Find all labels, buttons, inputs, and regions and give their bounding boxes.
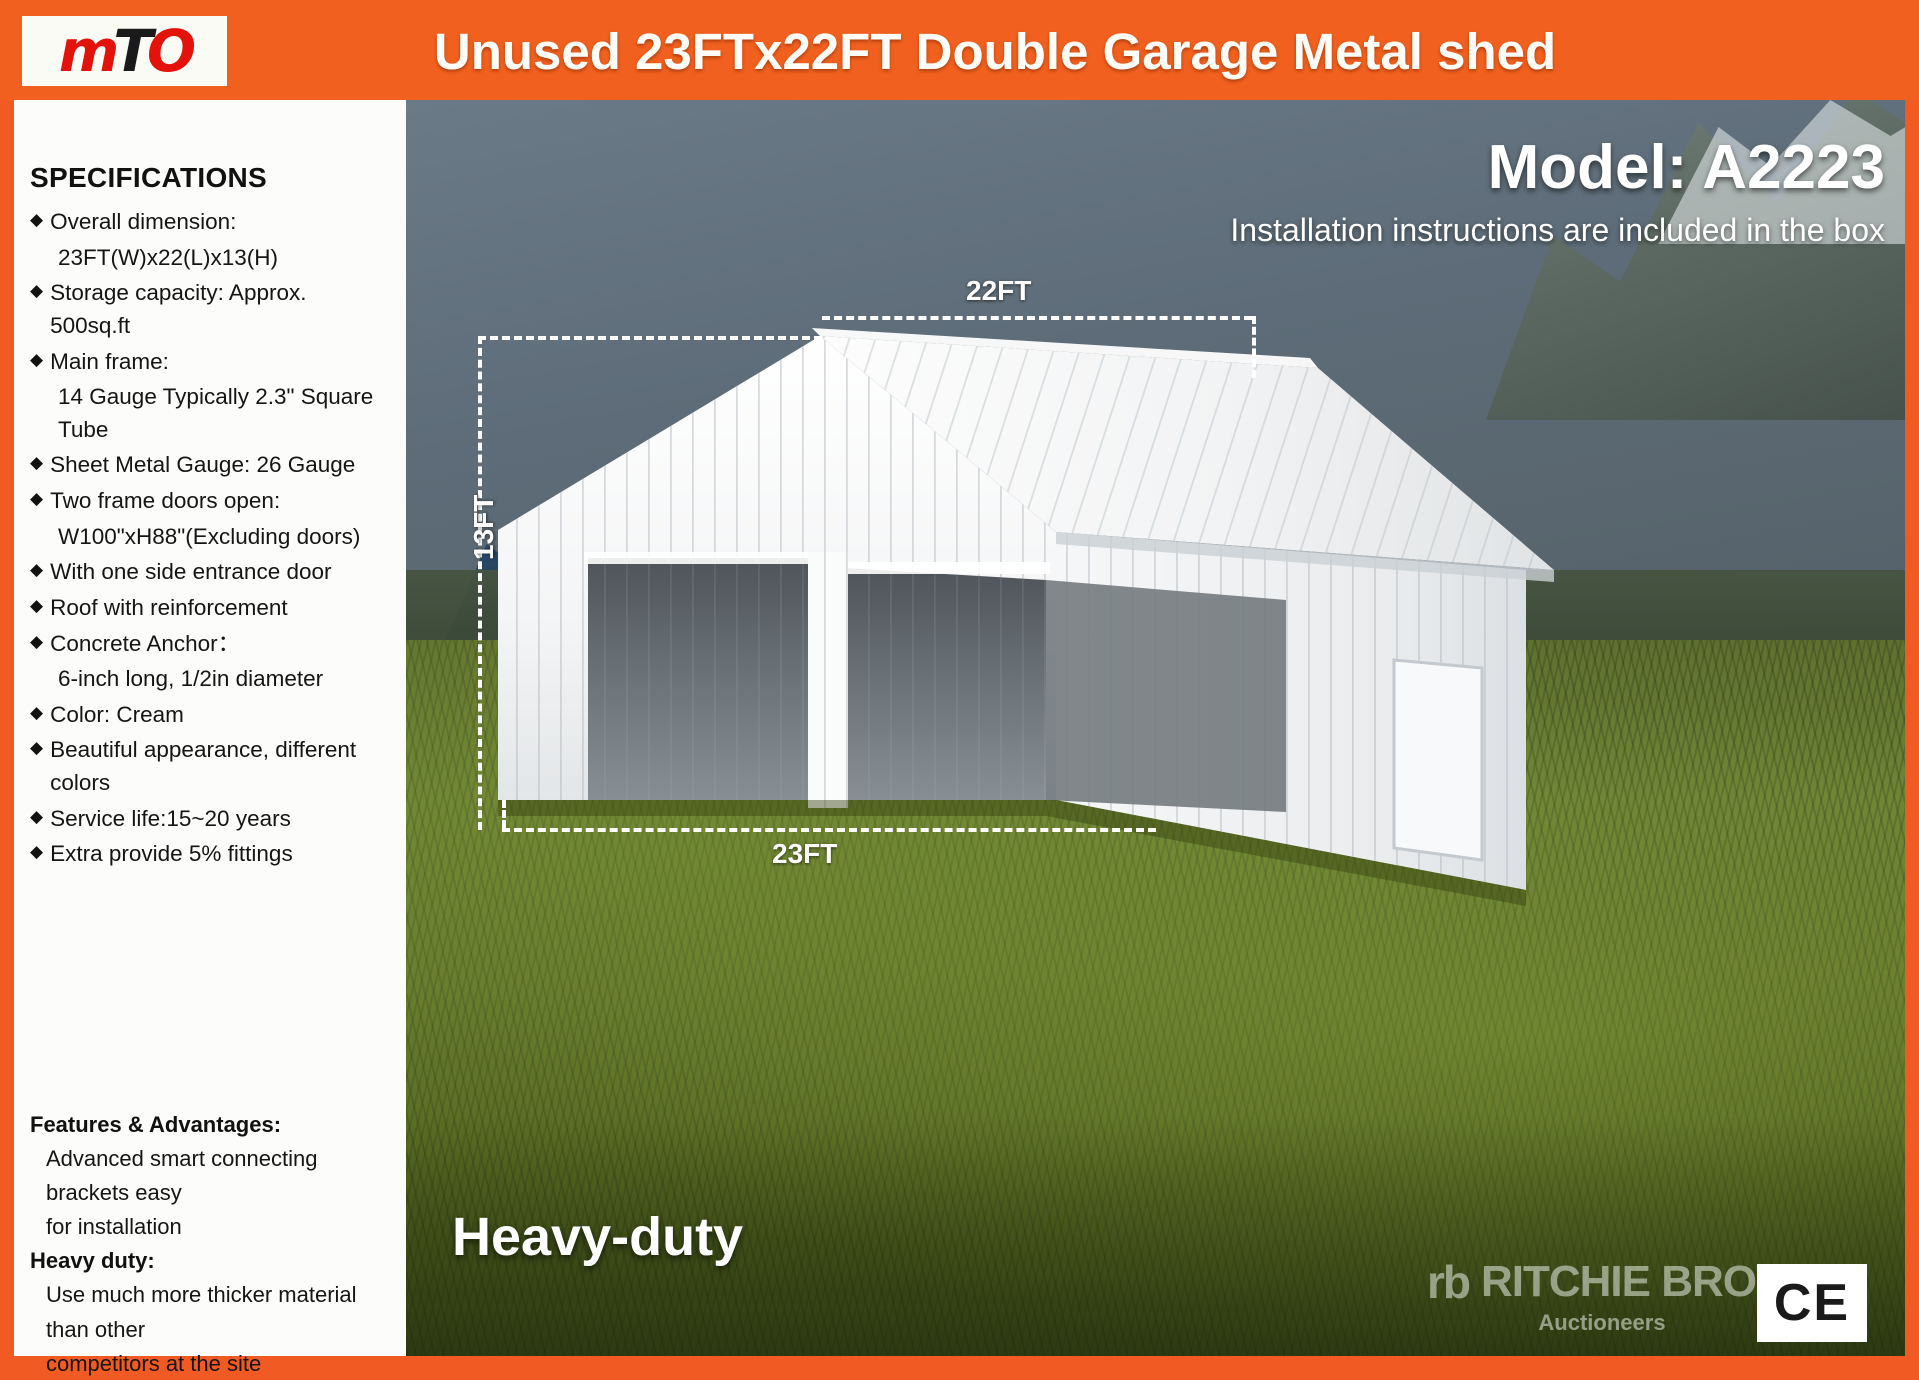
spec-item-sub: W100"xH88"(Excluding doors)	[30, 521, 390, 554]
installation-note: Installation instructions are included i…	[1230, 212, 1885, 249]
page-title: Unused 23FTx22FT Double Garage Metal she…	[255, 16, 1735, 86]
spec-item-label: Beautiful appearance, different colors	[50, 734, 390, 799]
logo-letter-m: m	[59, 17, 113, 85]
spec-item: ◆Concrete Anchor：	[30, 628, 390, 661]
model-label: Model: A2223	[1488, 132, 1885, 203]
spec-item: ◆Roof with reinforcement	[30, 592, 390, 625]
heavy-duty-subheading: Heavy duty:	[30, 1244, 390, 1278]
features-heading: Features & Advantages:	[30, 1108, 390, 1142]
specifications-panel: SPECIFICATIONS ◆Overall dimension: 23FT(…	[14, 100, 406, 1356]
spec-item: ◆Sheet Metal Gauge: 26 Gauge	[30, 449, 390, 482]
ce-mark-badge: CE	[1757, 1264, 1867, 1342]
diamond-bullet-icon: ◆	[30, 346, 43, 374]
diamond-bullet-icon: ◆	[30, 734, 43, 762]
spec-item: ◆Main frame:	[30, 346, 390, 379]
features-line-1: Advanced smart connecting brackets easy	[30, 1142, 390, 1210]
metal-shed-illustration	[406, 100, 1905, 1356]
diamond-bullet-icon: ◆	[30, 449, 43, 477]
spec-item: ◆Overall dimension:	[30, 206, 390, 239]
spec-item: ◆Beautiful appearance, different colors	[30, 734, 390, 799]
ce-mark-text: CE	[1774, 1277, 1850, 1329]
features-line-2: for installation	[30, 1210, 390, 1244]
dimension-line-23ft	[502, 828, 1156, 832]
watermark-brand-name: RITCHIE BROS.	[1481, 1260, 1796, 1304]
spec-item: ◆Extra provide 5% fittings	[30, 838, 390, 871]
features-line-4: competitors at the site	[30, 1347, 390, 1380]
spec-item: ◆With one side entrance door	[30, 556, 390, 589]
spec-item-label: Sheet Metal Gauge: 26 Gauge	[50, 449, 355, 482]
spec-item-sub: 23FT(W)x22(L)x13(H)	[30, 242, 390, 275]
dimension-line-top-left	[478, 336, 822, 340]
spec-item: ◆Color: Cream	[30, 699, 390, 732]
spec-item: ◆Storage capacity: Approx. 500sq.ft	[30, 277, 390, 342]
spec-item-label: Extra provide 5% fittings	[50, 838, 293, 871]
dimension-label-13ft: 13FT	[468, 495, 500, 560]
side-entrance-door	[1394, 660, 1482, 860]
features-line-3: Use much more thicker material than othe…	[30, 1278, 390, 1346]
product-spec-sheet: mTO Unused 23FTx22FT Double Garage Metal…	[0, 0, 1919, 1380]
spec-item-label: With one side entrance door	[50, 556, 331, 589]
dimension-line-13ft	[478, 336, 482, 830]
logo-letter-o: O	[147, 17, 190, 85]
product-photo: 22FT 13FT 23FT Model: A2223 Installation…	[406, 100, 1905, 1356]
dimension-label-22ft: 22FT	[966, 275, 1031, 307]
spec-item: ◆Service life:15~20 years	[30, 803, 390, 836]
mto-logo: mTO	[22, 16, 227, 86]
diamond-bullet-icon: ◆	[30, 206, 43, 234]
rb-logo-icon: rb	[1427, 1259, 1469, 1305]
spec-item-label: Storage capacity: Approx. 500sq.ft	[50, 277, 390, 342]
dimension-label-23ft: 23FT	[772, 838, 837, 870]
spec-item-label: Concrete Anchor：	[50, 628, 240, 661]
diamond-bullet-icon: ◆	[30, 838, 43, 866]
dimension-tick-22ft-right	[1252, 316, 1256, 378]
diamond-bullet-icon: ◆	[30, 803, 43, 831]
spec-item-label: Overall dimension:	[50, 206, 236, 239]
specifications-heading: SPECIFICATIONS	[30, 162, 390, 194]
header-bar: mTO Unused 23FTx22FT Double Garage Metal…	[0, 0, 1919, 100]
spec-item-label: Color: Cream	[50, 699, 184, 732]
diamond-bullet-icon: ◆	[30, 628, 43, 656]
spec-item-sub: 14 Gauge Typically 2.3" Square Tube	[30, 381, 390, 446]
diamond-bullet-icon: ◆	[30, 699, 43, 727]
spec-item-label: Roof with reinforcement	[50, 592, 288, 625]
spec-item-sub: 6-inch long, 1/2in diameter	[30, 663, 390, 696]
mto-logo-text: mTO	[59, 22, 190, 80]
door-header-left	[584, 552, 812, 564]
heavy-duty-label: Heavy-duty	[452, 1206, 743, 1268]
features-advantages-block: Features & Advantages: Advanced smart co…	[30, 1108, 390, 1380]
spec-item: ◆Two frame doors open:	[30, 485, 390, 518]
diamond-bullet-icon: ◆	[30, 592, 43, 620]
spec-item-label: Two frame doors open:	[50, 485, 280, 518]
logo-letter-t: T	[113, 17, 147, 85]
spec-item-label: Service life:15~20 years	[50, 803, 291, 836]
dimension-tick-23ft-left	[502, 800, 506, 828]
dimension-line-22ft	[822, 316, 1252, 320]
diamond-bullet-icon: ◆	[30, 485, 43, 513]
diamond-bullet-icon: ◆	[30, 277, 43, 305]
diamond-bullet-icon: ◆	[30, 556, 43, 584]
spec-item-label: Main frame:	[50, 346, 169, 379]
door-header-right	[842, 562, 1050, 574]
